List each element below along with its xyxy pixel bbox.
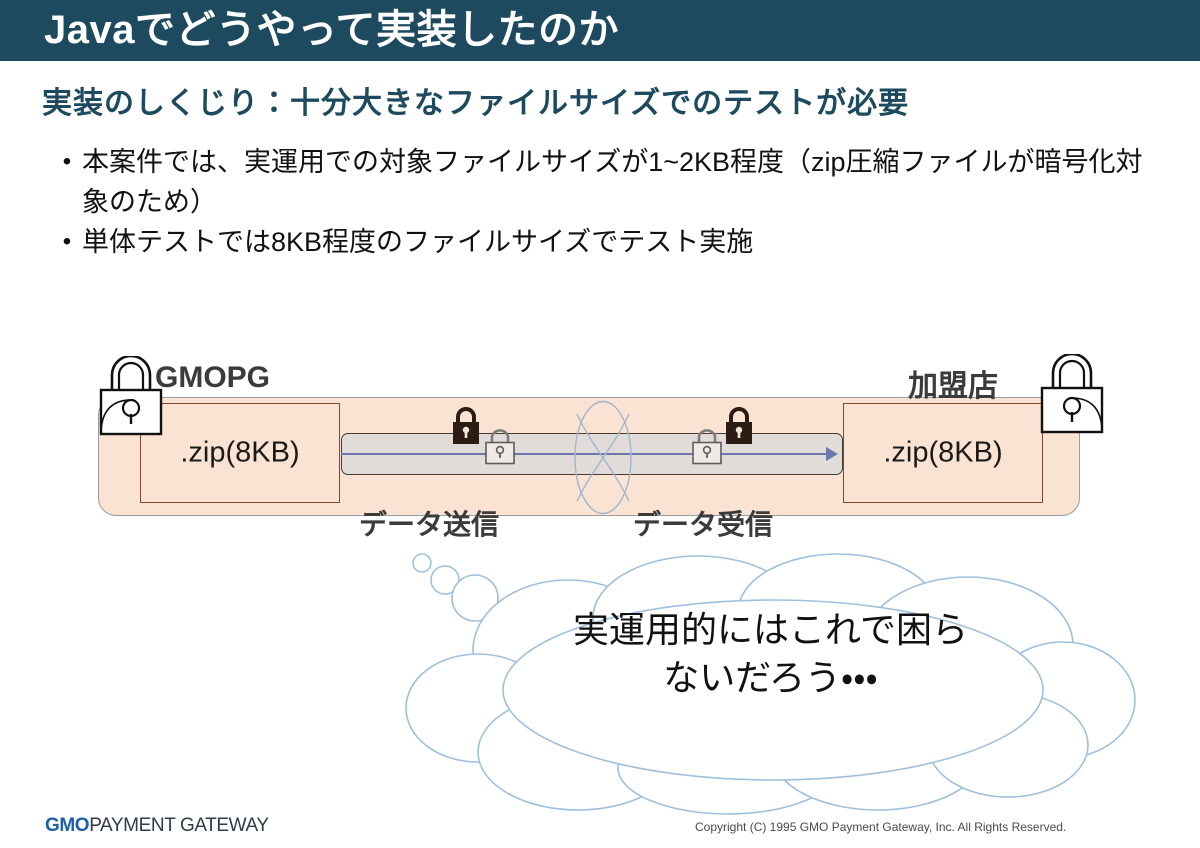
section-subtitle: 実装のしくじり：十分大きなファイルサイズでのテストが必要 <box>42 78 909 122</box>
list-item: • 本案件では、実運用での対象ファイルサイズが1~2KB程度（zip圧縮ファイル… <box>52 142 1162 222</box>
gmopg-file-box: .zip(8KB) <box>140 403 340 503</box>
label-data-receive: データ受信 <box>633 503 773 543</box>
label-data-send: データ送信 <box>359 503 499 543</box>
bullet-marker-icon: • <box>52 142 82 182</box>
transport-arrow-head-icon <box>826 447 838 461</box>
page-title: Javaでどうやって実装したのか <box>44 6 619 54</box>
cloud-text: 実運用的にはこれで困ら ないだろう・・・ <box>398 606 1143 702</box>
network-cross-icon <box>573 400 633 515</box>
merchant-file-label: .zip(8KB) <box>844 437 1042 470</box>
label-merchant: 加盟店 <box>908 361 998 405</box>
logo-gmo-text: GMO <box>45 815 89 836</box>
padlock-locked-gray-icon <box>690 425 724 465</box>
slide-title-bar: Javaでどうやって実装したのか <box>0 0 1200 61</box>
slide-root: Javaでどうやって実装したのか 実装のしくじり：十分大きなファイルサイズでのテ… <box>0 0 1200 848</box>
encryption-flow-diagram: .zip(8KB) .zip(8KB) <box>0 340 1200 560</box>
bullet-list: • 本案件では、実運用での対象ファイルサイズが1~2KB程度（zip圧縮ファイル… <box>52 142 1162 262</box>
copyright-text: Copyright (C) 1995 GMO Payment Gateway, … <box>695 820 1066 834</box>
cloud-text-line-2: ないだろう・・・ <box>398 654 1143 702</box>
logo-payment-gateway-text: PAYMENT GATEWAY <box>89 815 268 836</box>
padlock-open-icon <box>1036 354 1108 436</box>
padlock-locked-dark-icon <box>450 407 482 445</box>
gmopg-file-label: .zip(8KB) <box>141 437 339 470</box>
cloud-text-line-1: 実運用的にはこれで困ら <box>398 606 1143 654</box>
gmo-logo: GMOPAYMENT GATEWAY <box>45 815 269 837</box>
padlock-locked-gray-icon <box>483 425 517 465</box>
bullet-text: 本案件では、実運用での対象ファイルサイズが1~2KB程度（zip圧縮ファイルが暗… <box>82 142 1162 222</box>
label-gmopg: GMOPG <box>155 361 270 395</box>
merchant-file-box: .zip(8KB) <box>843 403 1043 503</box>
bullet-text: 単体テストでは8KB程度のファイルサイズでテスト実施 <box>82 222 1162 262</box>
bullet-marker-icon: • <box>52 222 82 262</box>
list-item: • 単体テストでは8KB程度のファイルサイズでテスト実施 <box>52 222 1162 262</box>
padlock-locked-dark-icon <box>723 407 755 445</box>
title-underline <box>0 61 1200 65</box>
